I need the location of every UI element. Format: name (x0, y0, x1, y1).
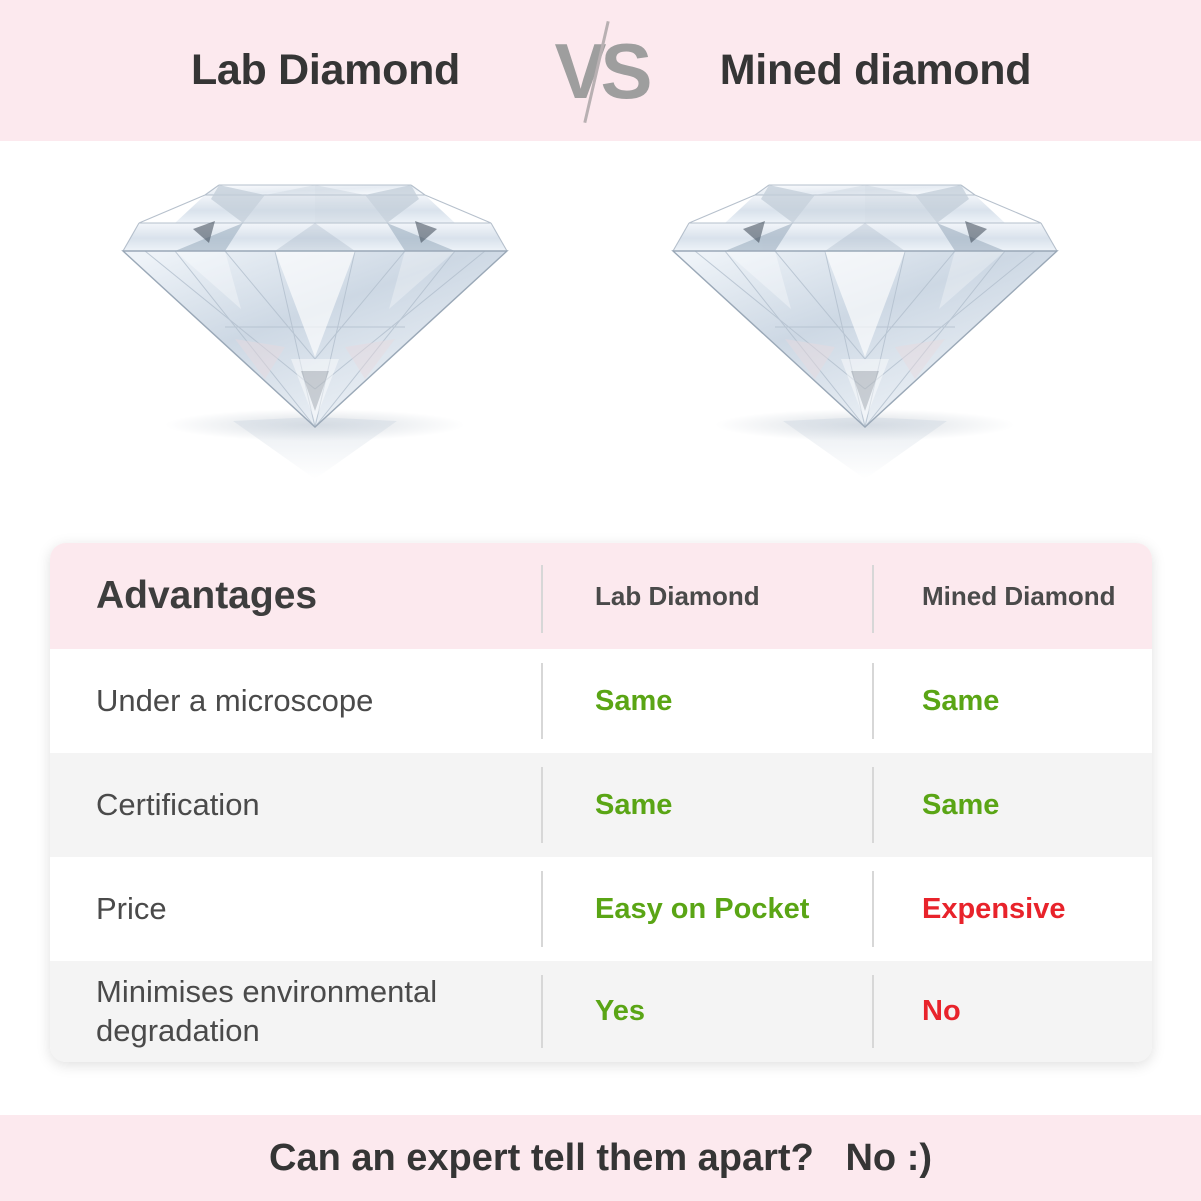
column-header-advantages: Advantages (50, 572, 541, 620)
diamond-image-lab (115, 159, 515, 489)
header-band: Lab Diamond VS Mined diamond (0, 0, 1201, 141)
comparison-table: Advantages Lab Diamond Mined Diamond Und… (50, 543, 1152, 1062)
column-header-mined: Mined Diamond (872, 581, 1152, 612)
column-header-lab: Lab Diamond (541, 581, 872, 612)
row-value-mined: Same (872, 789, 1152, 822)
header-title-mined: Mined diamond (656, 46, 1096, 95)
row-value-mined: No (872, 995, 1152, 1028)
row-label: Certification (50, 786, 541, 824)
row-label: Under a microscope (50, 682, 541, 720)
row-value-lab: Easy on Pocket (541, 893, 872, 926)
table-row: Under a microscope Same Same (50, 649, 1152, 753)
column-divider-1 (541, 871, 543, 947)
header-title-lab: Lab Diamond (106, 46, 546, 95)
column-divider-2 (872, 565, 874, 633)
table-header-row: Advantages Lab Diamond Mined Diamond (50, 543, 1152, 649)
footer-question: Can an expert tell them apart? No :) (269, 1137, 932, 1180)
column-divider-2 (872, 663, 874, 739)
row-value-lab: Yes (541, 995, 872, 1028)
row-value-mined: Same (872, 685, 1152, 718)
column-divider-1 (541, 663, 543, 739)
vs-badge: VS (546, 16, 656, 126)
column-divider-1 (541, 767, 543, 843)
row-value-lab: Same (541, 789, 872, 822)
diamond-illustration (115, 159, 515, 489)
row-value-mined: Expensive (872, 893, 1152, 926)
row-label: Price (50, 890, 541, 928)
table-row: Price Easy on Pocket Expensive (50, 857, 1152, 961)
column-divider-2 (872, 871, 874, 947)
column-divider-1 (541, 565, 543, 633)
diamond-images-area (0, 141, 1201, 541)
diamond-image-mined (665, 159, 1065, 489)
row-label: Minimises environmental degradation (50, 973, 541, 1050)
diamond-illustration (665, 159, 1065, 489)
table-row: Minimises environmental degradation Yes … (50, 961, 1152, 1062)
column-divider-1 (541, 975, 543, 1048)
table-row: Certification Same Same (50, 753, 1152, 857)
row-value-lab: Same (541, 685, 872, 718)
column-divider-2 (872, 767, 874, 843)
footer-band: Can an expert tell them apart? No :) (0, 1115, 1201, 1201)
column-divider-2 (872, 975, 874, 1048)
